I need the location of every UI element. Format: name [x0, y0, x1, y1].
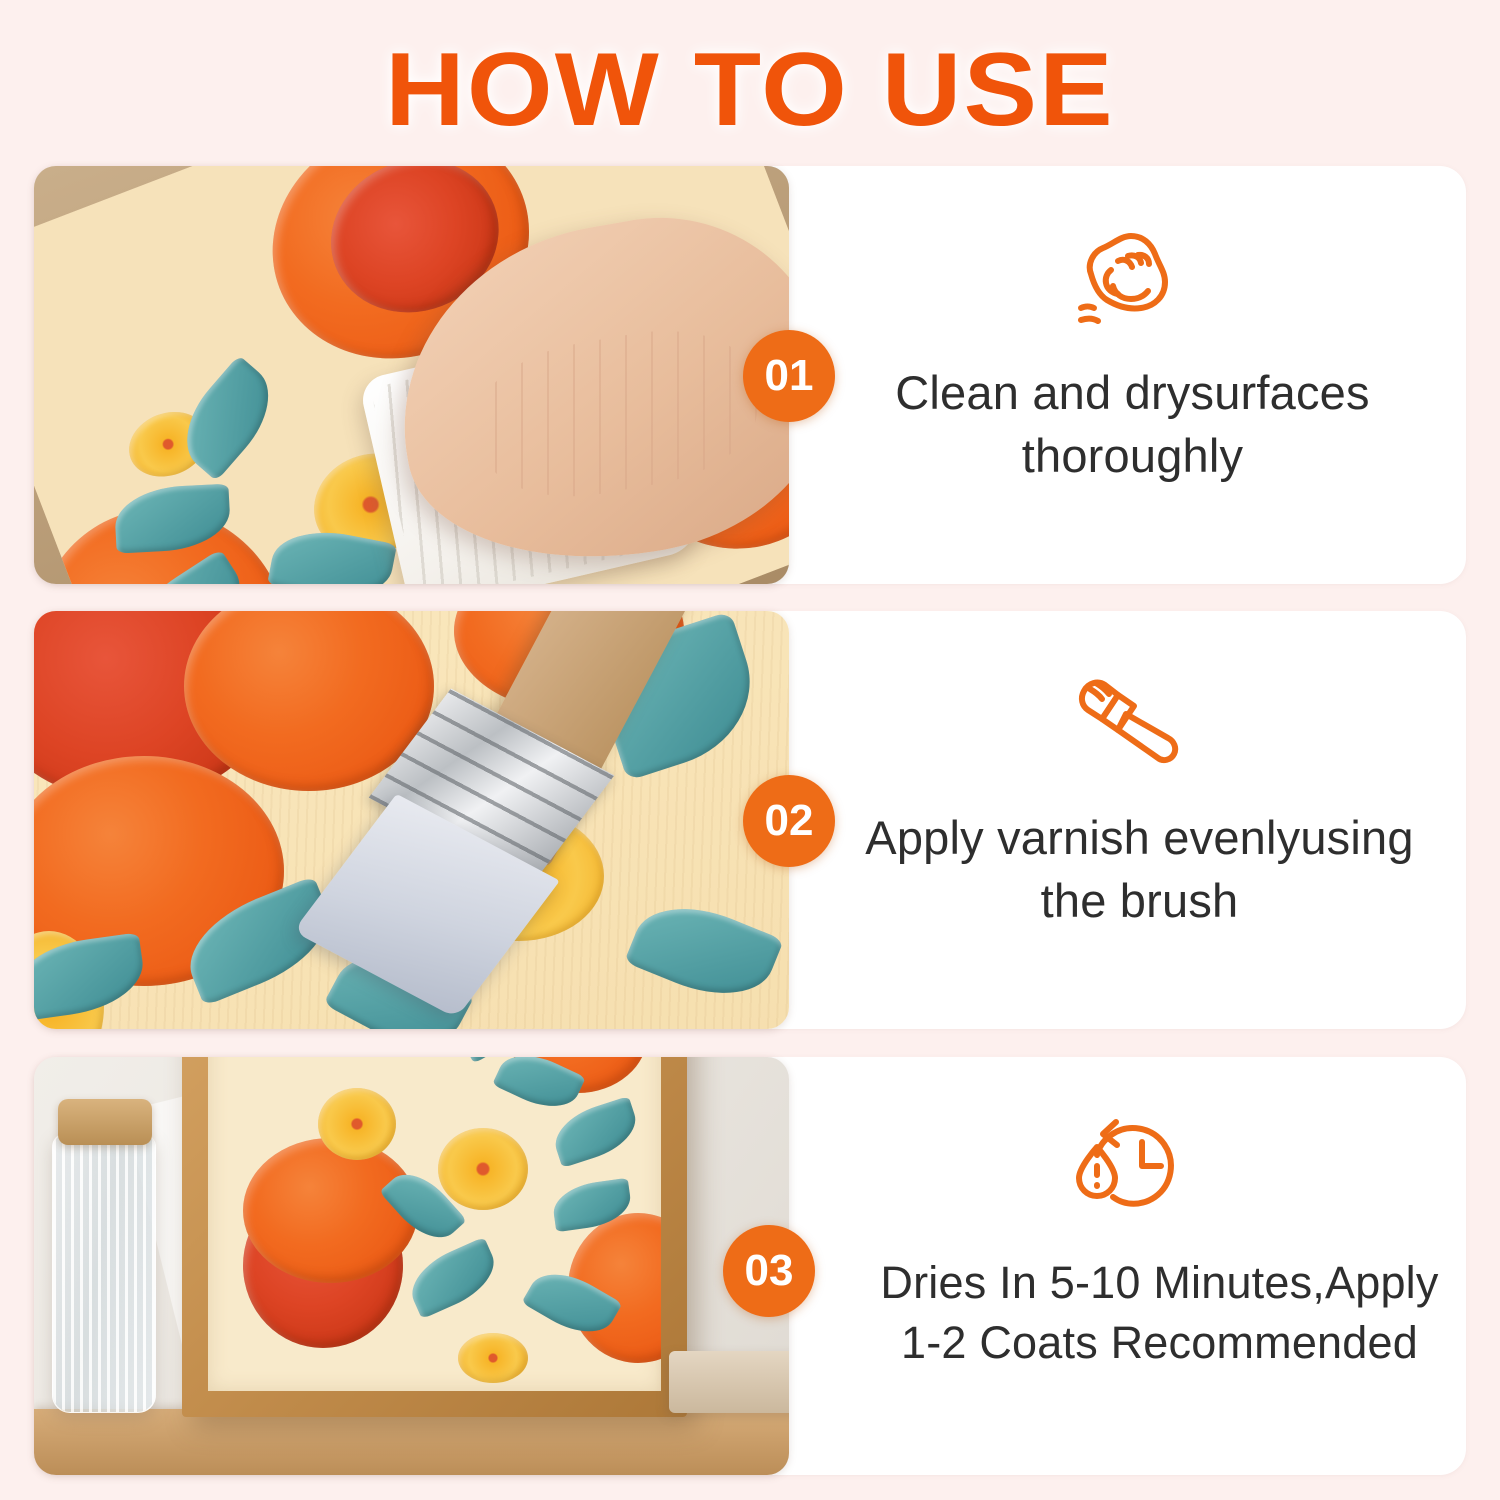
step-number-badge-3: 03 — [723, 1225, 815, 1317]
paint-leaf — [402, 1237, 505, 1319]
step-description-2: Apply varnish evenlyusing the brush — [829, 807, 1450, 932]
step-number-badge-1: 01 — [743, 330, 835, 422]
step-photo-1 — [34, 166, 789, 584]
paintbrush-icon — [789, 673, 1466, 768]
step-photo-3 — [34, 1057, 789, 1475]
step-photo-2 — [34, 611, 789, 1029]
paint-leaf — [548, 1096, 644, 1168]
photo3-glass-bottle — [52, 1133, 156, 1413]
step-description-3: Dries In 5-10 Minutes,Apply 1-2 Coats Re… — [861, 1253, 1458, 1373]
step-text-block-3: Dries In 5-10 Minutes,Apply 1-2 Coats Re… — [789, 1057, 1466, 1475]
step-text-block-1: Clean and drysurfaces thoroughly — [789, 166, 1466, 584]
hand-wiping-cloth-icon — [789, 228, 1466, 328]
drying-time-clock-droplet-icon — [789, 1109, 1466, 1214]
page-title: HOW TO USE — [0, 34, 1500, 146]
step-description-1: Clean and drysurfaces thoroughly — [815, 362, 1450, 487]
paint-blob-yellow-flower — [438, 1128, 528, 1210]
photo3-books — [669, 1351, 789, 1413]
photo3-shelf — [34, 1409, 789, 1475]
paint-blob-yellow-flower — [318, 1088, 396, 1160]
step-row-1: 01 Clean and drysurfaces thoroughly — [34, 166, 1466, 584]
step-row-3: 03 Dries In 5-10 Minutes,Apply 1-2 Coats… — [34, 1057, 1466, 1475]
step-row-2: 02 Apply varnish evenlyusing the brush — [34, 611, 1466, 1029]
infographic-page: HOW TO USE — [0, 0, 1500, 1500]
step-number-badge-2: 02 — [743, 775, 835, 867]
step-text-block-2: Apply varnish evenlyusing the brush — [789, 611, 1466, 1029]
photo3-picture-frame — [182, 1057, 687, 1417]
paint-blob-yellow-flower — [458, 1333, 528, 1383]
paint-blob-orange — [243, 1138, 418, 1283]
photo3-painting-surface — [208, 1057, 661, 1391]
photo3-bottle-cap — [58, 1099, 152, 1145]
